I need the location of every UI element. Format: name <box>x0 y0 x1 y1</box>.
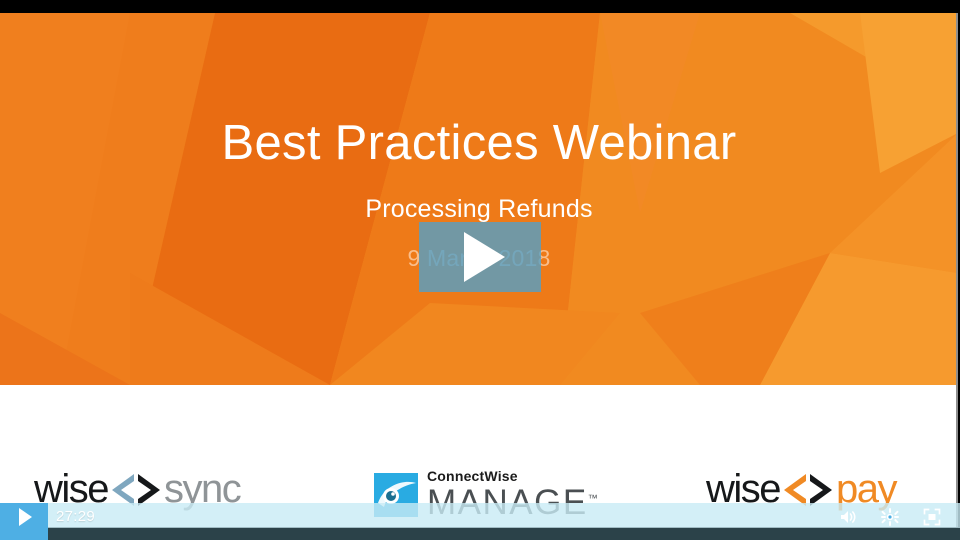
video-frame[interactable]: Best Practices Webinar Processing Refund… <box>0 13 958 527</box>
control-right-group <box>838 503 960 530</box>
volume-icon[interactable] <box>838 507 858 527</box>
center-play-button[interactable] <box>419 222 541 292</box>
slide-subtitle: Processing Refunds <box>0 195 958 224</box>
control-bottom-bar <box>0 528 960 540</box>
connectwise-top-line: ConnectWise <box>427 469 598 483</box>
play-icon <box>19 508 32 526</box>
slide-hero-background: Best Practices Webinar Processing Refund… <box>0 13 958 385</box>
progress-bar-track[interactable] <box>0 503 960 530</box>
play-button[interactable] <box>0 503 48 530</box>
slide-text-block: Best Practices Webinar Processing Refund… <box>0 13 958 385</box>
slide-title: Best Practices Webinar <box>0 118 958 169</box>
video-player[interactable]: Best Practices Webinar Processing Refund… <box>0 0 960 540</box>
fullscreen-icon[interactable] <box>922 507 942 527</box>
settings-gear-icon[interactable] <box>880 507 900 527</box>
player-controls[interactable]: 27:29 <box>0 503 960 540</box>
play-triangle-icon <box>464 232 505 282</box>
control-bottom-bar-accent <box>0 528 48 540</box>
current-time: 27:29 <box>56 503 95 530</box>
letterbox-top <box>0 0 960 13</box>
